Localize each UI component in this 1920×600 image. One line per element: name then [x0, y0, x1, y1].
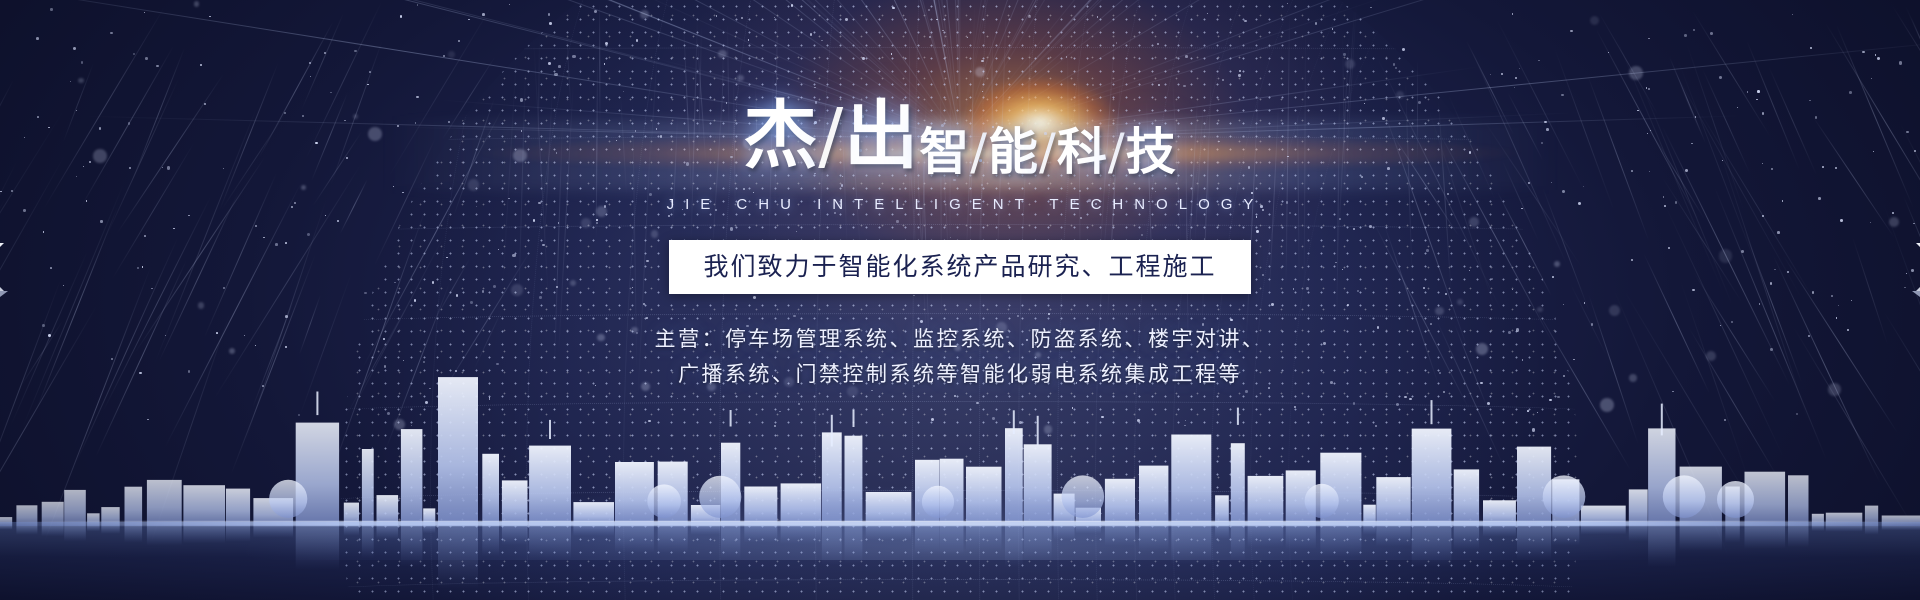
ribbon-tail-right [1916, 243, 1920, 291]
ribbon-banner: 我们致力于智能化系统产品研究、工程施工 [0, 240, 1920, 300]
headline-char-5: 能 [988, 123, 1039, 181]
description-line-2: 广播系统、门禁控制系统等智能化弱电系统集成工程等 [0, 357, 1920, 392]
headline-char-9: 技 [1126, 123, 1177, 181]
page-title: 杰/出智/能/科/技 [0, 88, 1920, 184]
hero-banner: 杰/出智/能/科/技 JIE CHU INTELLIGENT TECHNOLOG… [0, 0, 1920, 600]
description-line-1: 主营：停车场管理系统、监控系统、防盗系统、楼宇对讲、 [0, 322, 1920, 357]
ribbon-tail-left-band [0, 243, 4, 291]
ribbon-fold-left [0, 291, 8, 303]
business-description: 主营：停车场管理系统、监控系统、防盗系统、楼宇对讲、 广播系统、门禁控制系统等智… [0, 322, 1920, 392]
ribbon-slogan: 我们致力于智能化系统产品研究、工程施工 [669, 240, 1250, 294]
headline-char-2: 出 [844, 93, 919, 179]
banner-content: 杰/出智/能/科/技 JIE CHU INTELLIGENT TECHNOLOG… [0, 0, 1920, 600]
headline-char-1: / [818, 93, 844, 179]
headline-char-7: 科 [1057, 123, 1108, 181]
english-subtitle: JIE CHU INTELLIGENT TECHNOLOGY [0, 196, 1920, 213]
headline-char-4: / [970, 123, 988, 181]
ribbon-tail-right-band [1916, 243, 1920, 291]
ribbon-fold-right [1912, 291, 1920, 303]
headline-char-3: 智 [919, 123, 970, 181]
ribbon-tail-left [0, 243, 4, 291]
headline-char-0: 杰 [743, 93, 818, 179]
headline-char-8: / [1108, 123, 1126, 181]
headline-char-6: / [1039, 123, 1057, 181]
